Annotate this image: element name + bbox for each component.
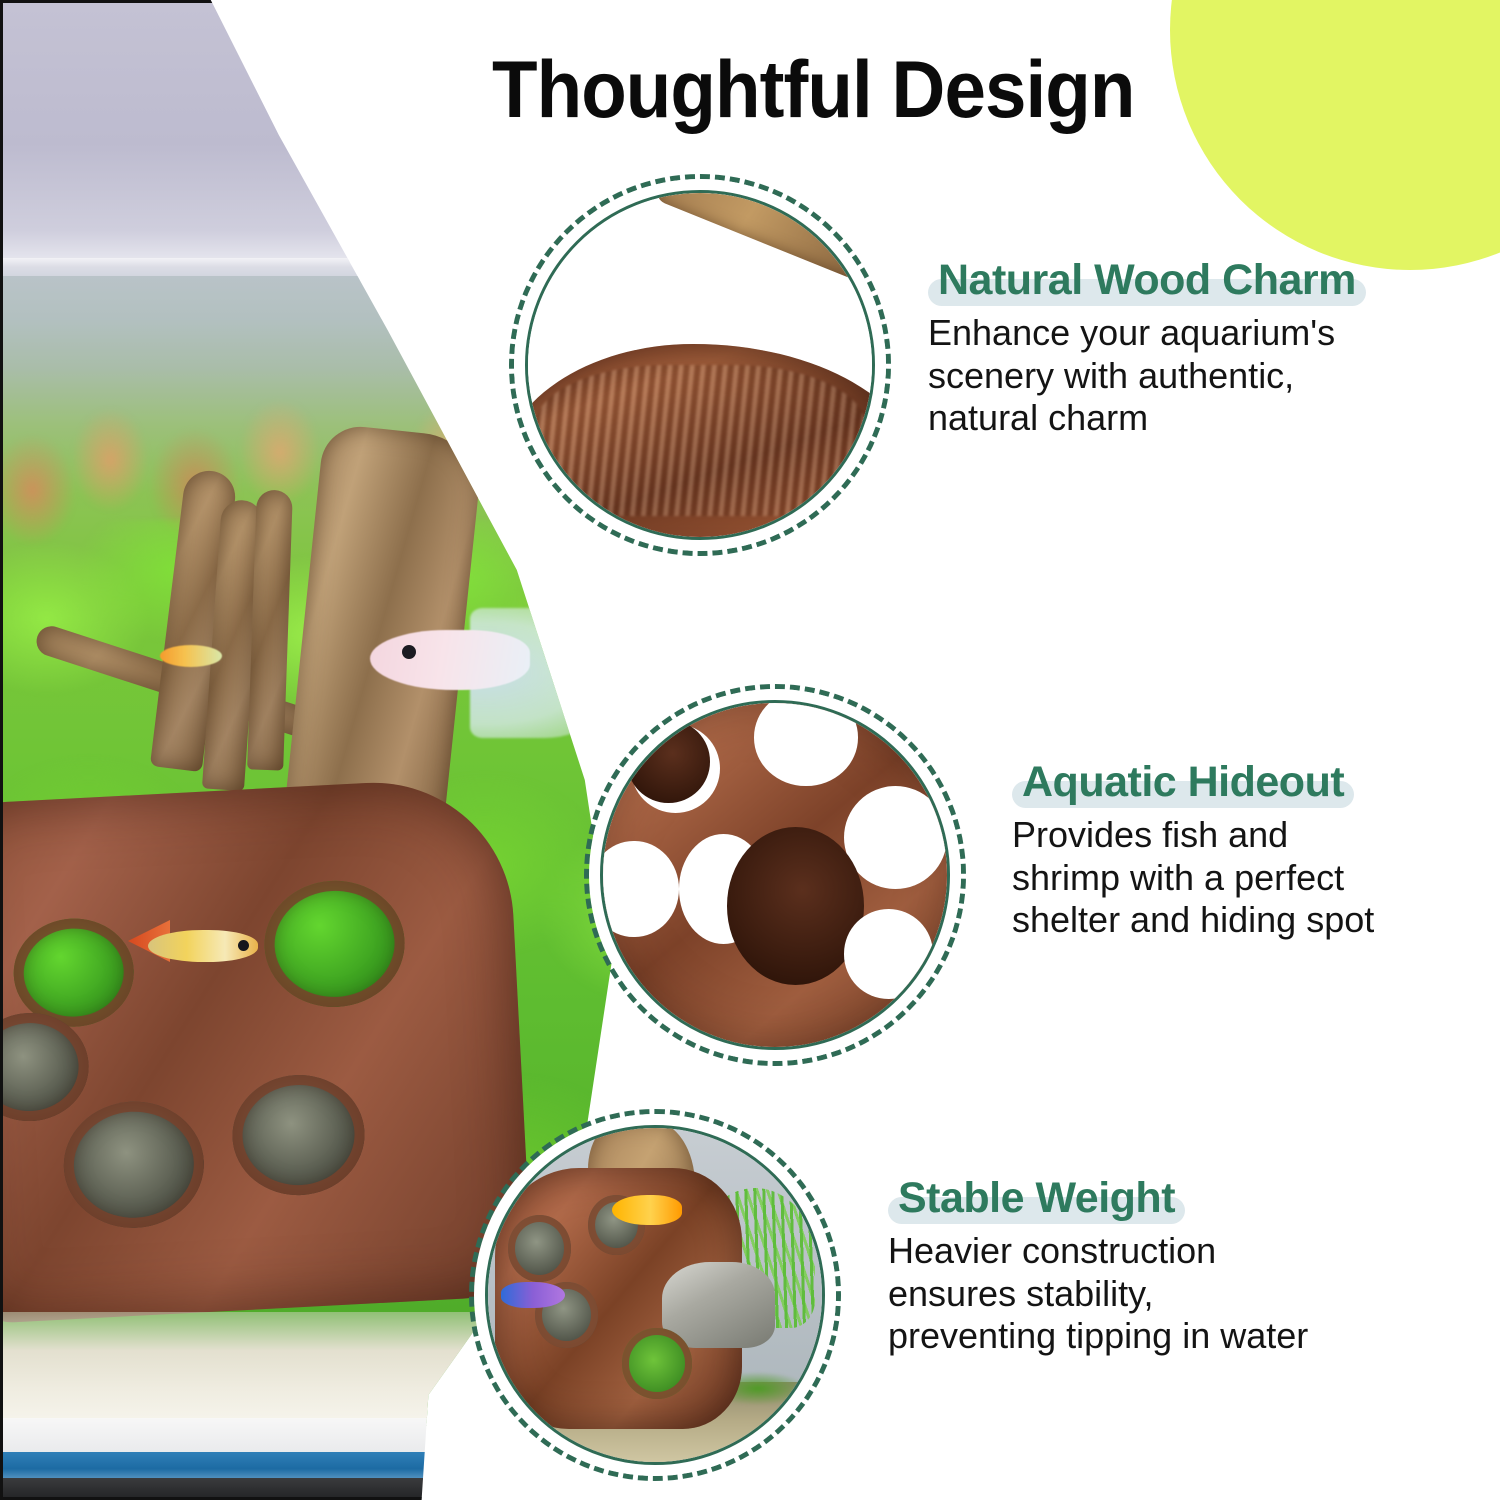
wood-grain-texture	[535, 365, 865, 516]
circle-photo-driftwood-closeup	[525, 190, 875, 540]
ornament-hole	[61, 1098, 207, 1231]
heading-label: Natural Wood Charm	[938, 256, 1356, 304]
heading-label: Aquatic Hideout	[1022, 758, 1344, 806]
feature-image-natural-wood-charm	[525, 190, 875, 540]
feature-text-natural-wood-charm: Natural Wood Charm Enhance your aquarium…	[928, 258, 1366, 440]
body-line: shelter and hiding spot	[1012, 899, 1374, 941]
body-line: Heavier construction	[888, 1230, 1308, 1272]
ornament-hole	[0, 1010, 91, 1124]
ornament-hole	[229, 1072, 367, 1199]
feature-body-natural-wood-charm: Enhance your aquarium's scenery with aut…	[928, 312, 1366, 439]
feature-heading-aquatic-hideout: Aquatic Hideout	[1012, 760, 1354, 808]
lime-corner-decoration	[1170, 0, 1500, 270]
tube-opening	[844, 786, 947, 889]
feature-text-stable-weight: Stable Weight Heavier construction ensur…	[888, 1176, 1308, 1358]
body-line: scenery with authentic,	[928, 355, 1366, 397]
feature-body-stable-weight: Heavier construction ensures stability, …	[888, 1230, 1308, 1357]
ornament-hole	[622, 1328, 692, 1398]
hollow-log-ornament	[0, 776, 533, 1325]
yellow-cichlid-fish	[612, 1195, 682, 1225]
infographic-page: Thoughtful Design Natural Wood Charm Enh…	[0, 0, 1500, 1500]
feature-text-aquatic-hideout: Aquatic Hideout Provides fish and shrimp…	[1012, 760, 1374, 942]
danio-eye	[238, 940, 249, 951]
circle-photo-hollow-tubes	[600, 700, 950, 1050]
body-line: Provides fish and	[1012, 814, 1374, 856]
circle-photo-ornament-in-aquarium	[485, 1125, 825, 1465]
feature-heading-stable-weight: Stable Weight	[888, 1176, 1185, 1224]
heading-label: Stable Weight	[898, 1174, 1175, 1222]
ornament-hole	[508, 1215, 571, 1282]
betta-eye	[402, 645, 416, 659]
page-title: Thoughtful Design	[492, 44, 1134, 137]
ornament-hole	[261, 877, 407, 1010]
body-line: shrimp with a perfect	[1012, 857, 1374, 899]
feature-image-stable-weight	[485, 1125, 825, 1465]
orange-tetra-fish	[160, 645, 222, 667]
body-line: natural charm	[928, 397, 1366, 439]
tube-shadow	[627, 720, 710, 803]
feature-image-aquatic-hideout	[600, 700, 950, 1050]
tank-base-dark-strip	[0, 1478, 680, 1500]
purple-cichlid-fish	[501, 1282, 564, 1309]
tube-opening	[844, 909, 933, 998]
body-line: ensures stability,	[888, 1273, 1308, 1315]
body-line: Enhance your aquarium's	[928, 312, 1366, 354]
body-line: preventing tipping in water	[888, 1315, 1308, 1357]
feature-body-aquatic-hideout: Provides fish and shrimp with a perfect …	[1012, 814, 1374, 941]
feature-heading-natural-wood-charm: Natural Wood Charm	[928, 258, 1366, 306]
